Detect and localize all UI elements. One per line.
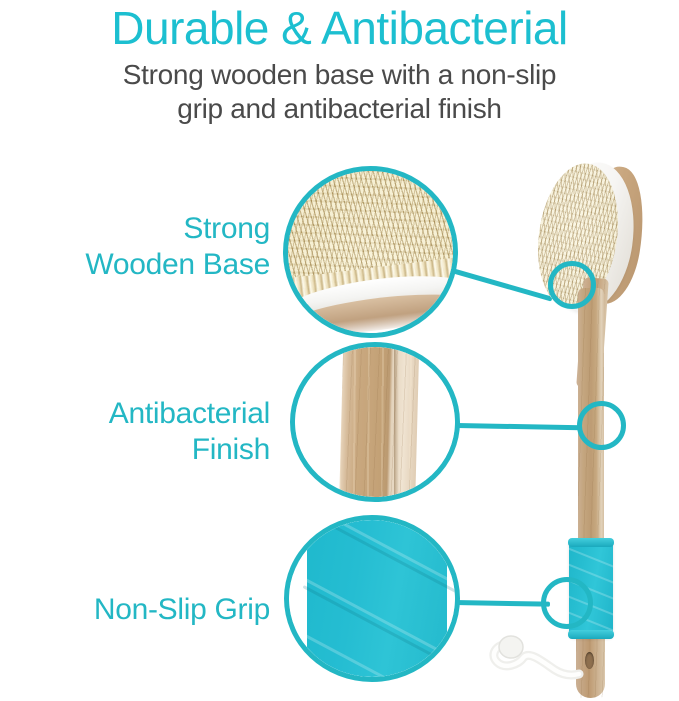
grip-closeup-image <box>289 520 455 677</box>
wood-finish-closeup-image <box>295 347 455 497</box>
grip-ridge <box>303 577 455 662</box>
grip-ridge <box>303 520 455 586</box>
callout-label-line-1: Antibacterial <box>0 396 270 432</box>
rubber-grip-surface <box>307 520 447 677</box>
hanging-rope-loop <box>483 634 595 688</box>
page-title: Durable & Antibacterial <box>0 2 679 54</box>
callout-label-line-1: Non-Slip Grip <box>0 592 270 628</box>
subtitle-line-2: grip and antibacterial finish <box>20 92 660 126</box>
page-subtitle: Strong wooden base with a non-slip grip … <box>20 58 660 126</box>
magnifier-circle-antibacterial-finish <box>290 342 460 502</box>
wood-edge-highlight <box>394 347 399 497</box>
grip-ridge <box>303 585 455 670</box>
callout-ring-strong-wooden-base <box>548 261 596 309</box>
magnifier-circle-strong-wooden-base <box>283 166 458 338</box>
header: Durable & Antibacterial Strong wooden ba… <box>0 0 679 126</box>
callout-ring-non-slip-grip <box>541 577 593 629</box>
callout-label-line-2: Finish <box>0 432 270 468</box>
callout-label-line-1: Strong <box>0 211 270 247</box>
wood-grain-texture <box>339 347 420 497</box>
callout-label-line-2: Wooden Base <box>0 247 270 283</box>
grip-cap-top <box>568 538 614 547</box>
callout-ring-antibacterial-finish <box>577 401 626 450</box>
grip-ridge <box>303 520 455 594</box>
callout-label-non-slip-grip: Non-Slip Grip <box>0 592 270 628</box>
infographic-canvas: Durable & Antibacterial Strong wooden ba… <box>0 0 679 701</box>
callout-label-strong-wooden-base: Strong Wooden Base <box>0 211 270 283</box>
subtitle-line-1: Strong wooden base with a non-slip <box>20 58 660 92</box>
callout-label-antibacterial-finish: Antibacterial Finish <box>0 396 270 468</box>
bristles-closeup-image <box>288 171 453 333</box>
wooden-handle-segment <box>339 347 420 497</box>
magnifier-circle-non-slip-grip <box>284 515 460 682</box>
